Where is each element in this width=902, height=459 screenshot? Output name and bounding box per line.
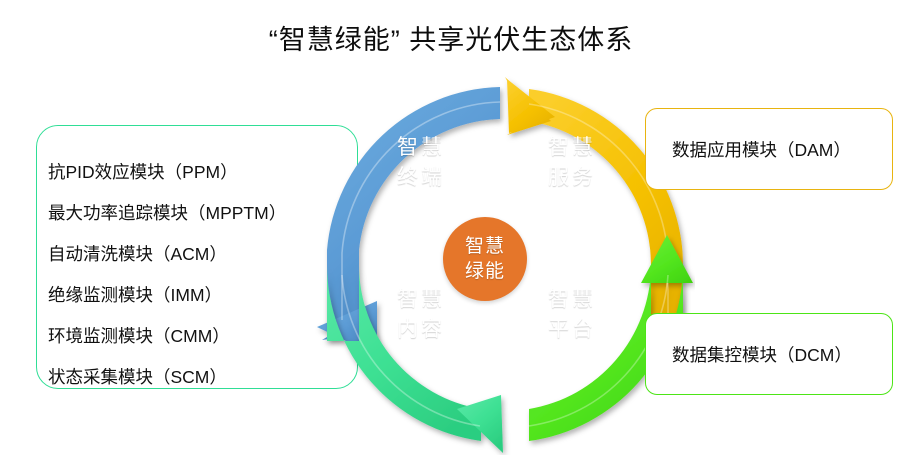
quadrant-label-top-right: 智慧 服务	[524, 133, 620, 193]
quadrant-label-line1: 智慧	[524, 285, 620, 315]
quadrant-label-line2: 内容	[373, 315, 469, 345]
center-hub-line2: 绿能	[465, 259, 505, 284]
diagram-canvas: “智慧绿能” 共享光伏生态体系 抗PID效应模块（PPM） 最大功率追踪模块（M…	[0, 0, 902, 459]
list-item: 自动清洗模块（ACM）	[48, 234, 338, 275]
list-item: 环境监测模块（CMM）	[48, 316, 338, 357]
quadrant-label-top-left: 智慧 终端	[373, 133, 469, 193]
right-panel-dcm-label: 数据集控模块（DCM）	[672, 342, 852, 367]
page-title: “智慧绿能” 共享光伏生态体系	[0, 18, 902, 57]
right-panel-dam: 数据应用模块（DAM）	[645, 108, 893, 190]
center-hub-line1: 智慧	[465, 234, 505, 259]
right-panel-dcm: 数据集控模块（DCM）	[645, 313, 893, 395]
left-modules-list: 抗PID效应模块（PPM） 最大功率追踪模块（MPPTM） 自动清洗模块（ACM…	[48, 152, 338, 398]
quadrant-label-line2: 平台	[524, 315, 620, 345]
quadrant-label-line1: 智慧	[524, 133, 620, 163]
quadrant-label-line1: 智慧	[373, 133, 469, 163]
quadrant-label-bottom-right: 智慧 平台	[524, 285, 620, 345]
list-item: 状态采集模块（SCM）	[48, 357, 338, 398]
right-panel-dam-label: 数据应用模块（DAM）	[672, 137, 851, 162]
list-item: 最大功率追踪模块（MPPTM）	[48, 193, 338, 234]
quadrant-label-line2: 终端	[373, 163, 469, 193]
list-item: 绝缘监测模块（IMM）	[48, 275, 338, 316]
quadrant-label-line2: 服务	[524, 163, 620, 193]
list-item: 抗PID效应模块（PPM）	[48, 152, 338, 193]
center-hub-label: 智慧 绿能	[443, 217, 527, 301]
